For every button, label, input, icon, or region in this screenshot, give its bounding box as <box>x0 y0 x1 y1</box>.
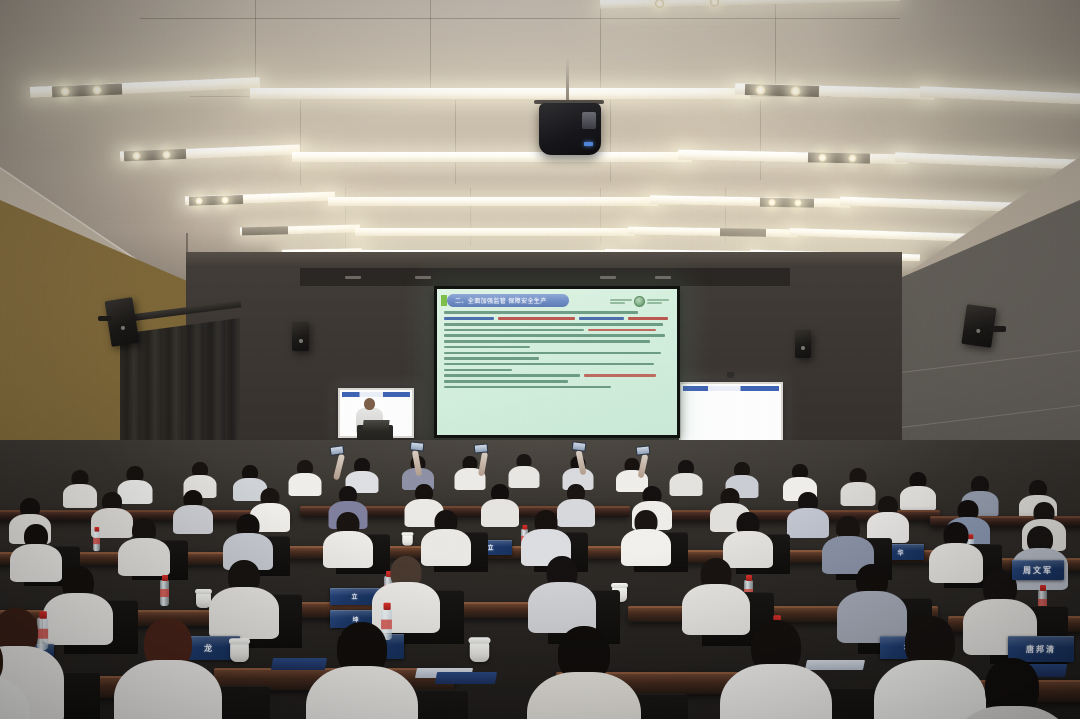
tea-cup <box>402 534 413 545</box>
audience-area: 立 华 <box>0 440 1080 719</box>
institution-logo <box>610 296 669 307</box>
nameplate-text: 立 <box>351 592 358 601</box>
main-projection-screen: 二、全面加强监管 保障安全生产 <box>434 286 680 438</box>
document-folder <box>435 672 497 684</box>
speaker-icon <box>795 330 811 358</box>
display-toolbar <box>342 392 410 397</box>
nameplate-text: 华 <box>897 548 904 557</box>
smartphone <box>474 443 489 453</box>
nameplate-zhou-wenjun: 周文军 <box>1012 560 1064 580</box>
document-sheet <box>805 660 865 670</box>
tea-cup <box>470 641 490 662</box>
ceiling-seam <box>300 100 301 186</box>
nameplate-text: 立 <box>487 543 494 552</box>
speaker-bracket <box>990 326 1006 332</box>
projector-control-panel[interactable] <box>582 112 596 129</box>
logo-wordmark <box>610 299 632 304</box>
ceiling-seam <box>430 0 431 94</box>
logo-emblem-icon <box>634 296 645 307</box>
projector-mount-rod <box>566 58 569 102</box>
ceiling-seam <box>760 100 761 180</box>
projector <box>539 103 601 155</box>
ceiling-seam <box>775 0 776 90</box>
ceiling-light-strip <box>355 228 635 236</box>
nameplate-text: 龙 <box>204 643 214 654</box>
smartphone <box>329 445 344 456</box>
ceiling-seam <box>140 18 900 19</box>
display-mount <box>727 372 734 378</box>
right-side-display-screen <box>681 384 781 443</box>
conference-hall-photo: 二、全面加强监管 保障安全生产 <box>0 0 1080 719</box>
projector-status-led <box>584 142 593 146</box>
logo-institution-name <box>647 299 669 304</box>
water-bottle <box>37 618 48 651</box>
ceiling-vent <box>345 276 361 279</box>
ceiling-vent <box>655 276 671 279</box>
slide-title-text: 二、全面加强监管 保障安全生产 <box>455 296 547 305</box>
speaker-icon <box>292 322 309 351</box>
slide-body-text <box>444 311 670 430</box>
display-toolbar <box>683 386 779 391</box>
slide-title-banner: 二、全面加强监管 保障安全生产 <box>447 294 569 307</box>
slide: 二、全面加强监管 保障安全生产 <box>437 289 677 435</box>
smartphone <box>572 441 587 452</box>
tea-cup <box>230 642 249 662</box>
ceiling-light-strip <box>292 152 692 162</box>
ceiling-vent <box>600 276 616 279</box>
smartphone <box>410 441 425 451</box>
ceiling-seam <box>455 100 456 184</box>
document-folder <box>271 658 327 670</box>
ceiling-light-strip <box>328 197 658 206</box>
smartphone <box>636 445 651 455</box>
right-side-display[interactable] <box>679 382 783 445</box>
ceiling-vent <box>415 276 431 279</box>
front-wall-cornice <box>186 252 902 268</box>
water-bottle <box>160 580 169 606</box>
water-bottle <box>93 531 100 551</box>
speaker-bracket <box>98 316 112 321</box>
nameplate-text: 唐邦清 <box>1026 644 1056 655</box>
front-wall-recess <box>300 268 790 286</box>
nameplate-text: 周文军 <box>1023 565 1053 576</box>
presenter-head <box>364 398 375 410</box>
ceiling-seam <box>610 100 611 182</box>
ceiling-light-strip <box>250 88 750 99</box>
ceiling-seam <box>600 0 601 92</box>
presenter-laptop <box>362 420 389 432</box>
